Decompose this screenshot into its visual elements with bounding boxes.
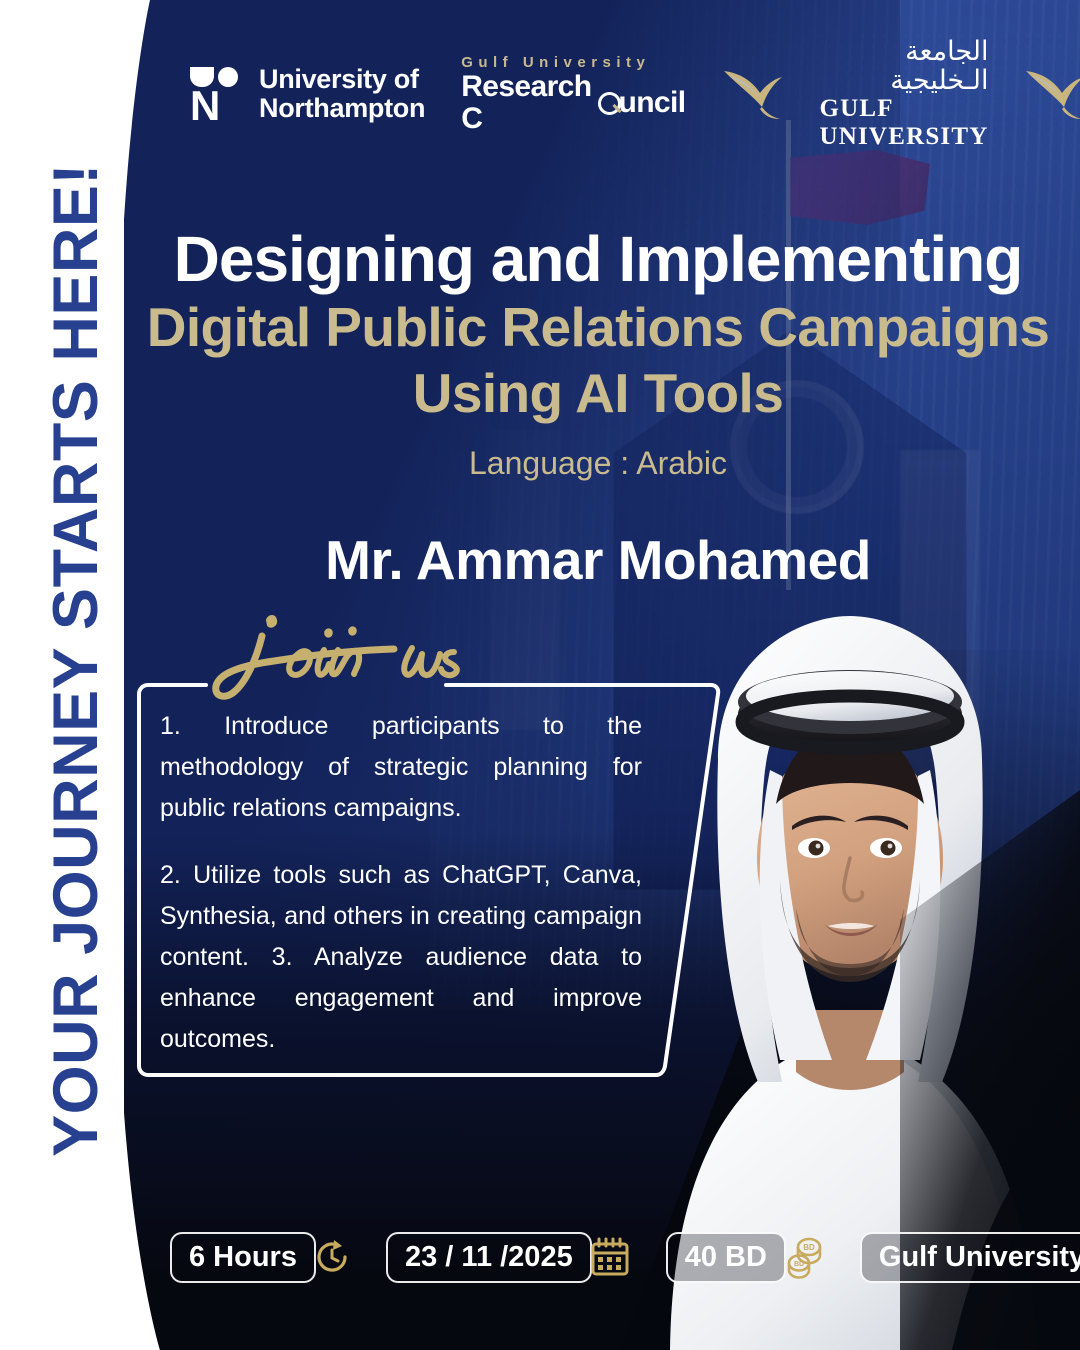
date-label: 23 / 11 /2025 <box>386 1232 592 1283</box>
price-badge[interactable]: 40 BD BD BD <box>666 1232 826 1283</box>
language-label: Language : Arabic <box>124 440 1072 486</box>
uon-logo-text: University of Northampton <box>259 65 425 123</box>
venue-label: Gulf University <box>860 1232 1080 1283</box>
uon-line1: University of <box>259 65 425 94</box>
duration-badge[interactable]: 6 Hours <box>170 1232 352 1283</box>
headline-line-1: Designing and Implementing <box>124 224 1072 294</box>
side-banner-text: YOUR JOURNEY STARTS HERE! <box>40 150 112 1170</box>
university-of-northampton-logo: N University of Northampton <box>190 65 425 123</box>
headline-line-2: Digital Public Relations Campaigns <box>124 294 1072 360</box>
gulf-university-logo: الجامعة الـخليجية GULF UNIVERSITY <box>820 37 989 151</box>
objective-item: 1. Introduce participants to the methodo… <box>160 706 642 829</box>
grc-subtitle: Gulf University <box>461 54 685 71</box>
uon-line2: Northampton <box>259 94 425 123</box>
grc-title: Research C uncil <box>461 71 685 135</box>
gulf-university-arabic: الجامعة الـخليجية <box>820 37 989 95</box>
logo-row: N University of Northampton Gulf Univers… <box>190 48 1020 140</box>
headline-line-3: Using AI Tools <box>124 360 1072 426</box>
svg-text:BD: BD <box>794 1261 804 1268</box>
clock-icon <box>312 1237 352 1277</box>
objective-item: 2. Utilize tools such as ChatGPT, Canva,… <box>160 855 642 1060</box>
date-badge[interactable]: 23 / 11 /2025 <box>386 1232 632 1283</box>
falcon-icon <box>722 67 784 121</box>
venue-badge[interactable]: Gulf University <box>860 1232 1080 1283</box>
grc-title-part1: Research C <box>461 71 595 135</box>
objectives-text: 1. Introduce participants to the methodo… <box>160 706 642 1060</box>
info-badge-row: 6 Hours 23 / 11 /2025 40 BD <box>170 1232 1080 1282</box>
gulf-university-english: GULF UNIVERSITY <box>820 95 989 151</box>
gulf-university-research-council-logo: Gulf University Research C uncil <box>461 54 685 135</box>
event-poster: YOUR JOURNEY STARTS HERE! N University o… <box>0 0 1080 1350</box>
svg-text:BD: BD <box>803 1243 815 1252</box>
duration-label: 6 Hours <box>170 1232 316 1283</box>
uon-logo-icon: N <box>190 65 248 123</box>
magnifier-icon <box>596 90 617 115</box>
falcon-icon <box>1024 67 1080 121</box>
calendar-icon <box>588 1235 632 1279</box>
price-label: 40 BD <box>666 1232 786 1283</box>
grc-title-part2: uncil <box>618 87 685 119</box>
speaker-name: Mr. Ammar Mohamed <box>124 528 1072 592</box>
coins-icon: BD BD <box>782 1235 826 1279</box>
headline-block: Designing and Implementing Digital Publi… <box>124 224 1072 486</box>
